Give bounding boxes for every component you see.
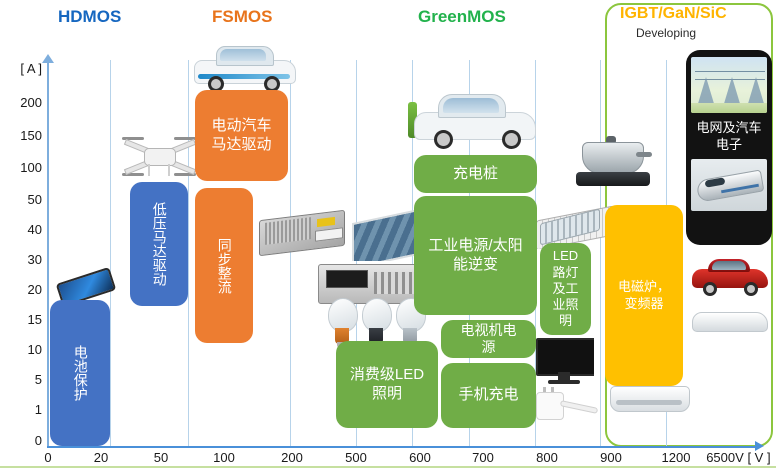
x-tick-500: 500 <box>338 450 374 465</box>
segment-box-tv-power-supply[interactable]: 电视机电 源 <box>441 320 536 358</box>
x-tick-800: 800 <box>529 450 565 465</box>
header-developing: Developing <box>636 26 696 40</box>
tv-monitor-icon <box>534 338 594 386</box>
y-tick-10: 10 <box>0 342 42 357</box>
segment-box-synchronous-rectification[interactable]: 同步整流 <box>195 188 253 343</box>
segment-box-led-street-industrial-lighting[interactable]: LED 路灯 及工 业照 明 <box>540 243 591 335</box>
y-tick-5: 5 <box>0 372 42 387</box>
segment-box-industrial-power-solar-inverter[interactable]: 工业电源/太阳 能逆变 <box>414 196 537 315</box>
segment-label: 工业电源/太阳 能逆变 <box>428 237 522 275</box>
phone-charger-icon <box>534 386 598 430</box>
y-tick-15: 15 <box>0 312 42 327</box>
y-axis-line <box>47 60 49 448</box>
x-tick-50: 50 <box>146 450 176 465</box>
y-tick-100: 100 <box>0 160 42 175</box>
red-sedan-icon <box>690 255 770 299</box>
y-axis-unit: [ A ] <box>0 61 42 76</box>
segment-label: LED 路灯 及工 业照 明 <box>552 248 578 329</box>
gridline-50 <box>188 60 189 446</box>
x-tick-700: 700 <box>465 450 501 465</box>
y-tick-30: 30 <box>0 252 42 267</box>
bottom-green-rule <box>0 466 776 468</box>
y-tick-20: 20 <box>0 282 42 297</box>
y-tick-150: 150 <box>0 128 42 143</box>
x-tick-600: 600 <box>402 450 438 465</box>
x-axis-unit: [ V ] <box>744 450 774 465</box>
air-conditioner-icon <box>610 382 690 418</box>
application-map-canvas: HDMOS FSMOS GreenMOS IGBT/GaN/SiC Develo… <box>0 0 776 473</box>
x-tick-100: 100 <box>206 450 242 465</box>
segment-box-phone-charging[interactable]: 手机充电 <box>441 363 536 428</box>
header-igbt-gan-sic: IGBT/GaN/SiC <box>620 5 727 23</box>
segment-label: 手机充电 <box>458 386 518 405</box>
smartphone-battery-icon <box>52 263 116 303</box>
electric-car-icon <box>190 40 300 94</box>
power-supply-brick-icon <box>255 205 347 260</box>
segment-label: 充电桩 <box>453 165 498 184</box>
y-tick-0: 0 <box>0 433 42 448</box>
segment-box-low-voltage-motor-drive[interactable]: 低压马达驱动 <box>130 182 188 306</box>
segment-box-charging-pile[interactable]: 充电桩 <box>414 155 537 193</box>
header-fsmos: FSMOS <box>212 7 272 27</box>
segment-label: 电网及汽车 电子 <box>696 120 761 154</box>
led-street-lamp-icon <box>538 208 600 246</box>
segment-box-induction-cooker-inverter[interactable]: 电磁炉， 变频器 <box>605 205 683 386</box>
drone-icon <box>122 128 196 186</box>
header-hdmos: HDMOS <box>58 7 121 27</box>
high-speed-train-icon <box>691 159 767 211</box>
segment-label: 电动汽车 马达驱动 <box>211 117 271 155</box>
x-tick-900: 900 <box>593 450 629 465</box>
x-tick-200: 200 <box>274 450 310 465</box>
x-axis-line <box>47 446 757 448</box>
white-vehicle-icon <box>690 300 768 340</box>
gridline-20 <box>110 60 111 446</box>
charging-electric-car-icon <box>408 88 540 152</box>
segment-box-ev-motor-drive[interactable]: 电动汽车 马达驱动 <box>195 90 288 181</box>
x-tick-20: 20 <box>86 450 116 465</box>
gridline-800 <box>600 60 601 446</box>
y-tick-40: 40 <box>0 222 42 237</box>
induction-cooker-icon <box>576 136 654 202</box>
header-greenmos: GreenMOS <box>418 7 506 27</box>
x-tick-0: 0 <box>36 450 60 465</box>
segment-label: 电视机电 源 <box>461 322 517 357</box>
segment-label: 消费级LED 照明 <box>350 366 424 404</box>
y-tick-50: 50 <box>0 192 42 207</box>
segment-box-battery-protection[interactable]: 电池保护 <box>50 300 110 446</box>
y-tick-1: 1 <box>0 402 42 417</box>
x-tick-1200: 1200 <box>655 450 697 465</box>
power-grid-icon <box>691 57 767 113</box>
segment-box-power-grid-automotive-electronics[interactable]: 电网及汽车 电子 <box>686 50 772 245</box>
segment-label: 电磁炉， 变频器 <box>618 279 670 312</box>
segment-label: 同步整流 <box>215 238 233 294</box>
segment-label: 低压马达驱动 <box>150 202 168 286</box>
segment-label: 电池保护 <box>71 345 89 401</box>
segment-box-consumer-led-lighting[interactable]: 消费级LED 照明 <box>336 341 438 428</box>
y-tick-200: 200 <box>0 95 42 110</box>
